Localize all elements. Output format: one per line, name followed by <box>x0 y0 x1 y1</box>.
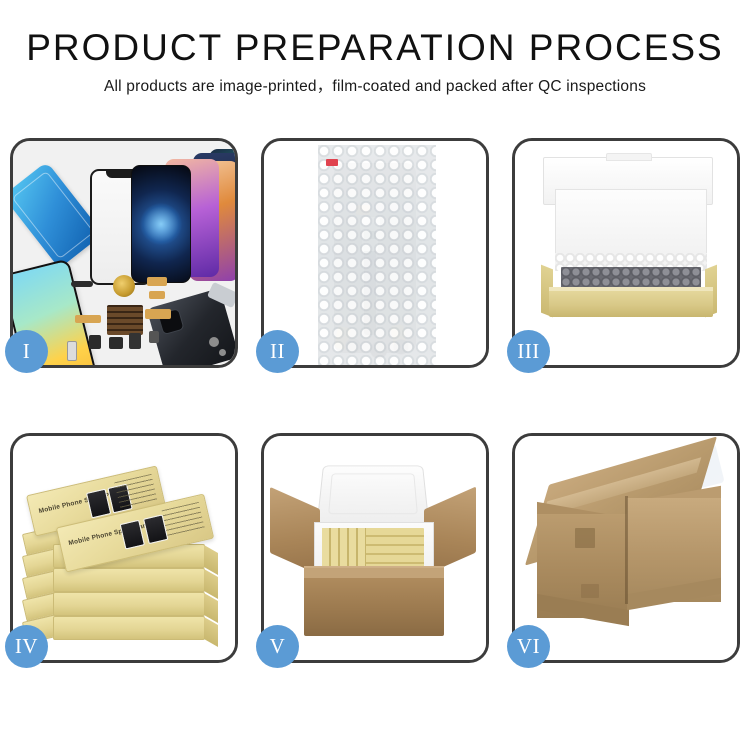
step-badge-4: IV <box>5 625 48 668</box>
step-panel-4[interactable]: Mobile Phone Spare Parts Mobile Phone Sp… <box>10 433 238 663</box>
step-panel-1[interactable]: I <box>10 138 238 368</box>
part-flex-strip-a <box>71 281 93 287</box>
part-coil <box>113 275 135 297</box>
part-small-1 <box>89 335 101 349</box>
step-image-bubble-wrapped-screen <box>264 141 486 365</box>
page-title: PRODUCT PREPARATION PROCESS <box>0 26 750 70</box>
step-panel-2[interactable]: II <box>261 138 489 368</box>
carton-front-wall <box>304 576 444 636</box>
step-badge-5: V <box>256 625 299 668</box>
red-qc-label <box>326 159 338 166</box>
step-panel-3[interactable]: III <box>512 138 740 368</box>
step-badge-2: II <box>256 330 299 373</box>
gold-box-front-2 <box>53 616 205 640</box>
carton-label-lower <box>581 584 599 598</box>
box-front-wall <box>549 291 713 317</box>
carton-flap-left <box>270 487 320 575</box>
box-spec-lines-lower <box>162 502 205 538</box>
part-small-4 <box>149 331 159 343</box>
step-image-parts-collage <box>13 141 235 365</box>
step-image-stacked-gold-boxes: Mobile Phone Spare Parts Mobile Phone Sp… <box>13 436 235 660</box>
header: PRODUCT PREPARATION PROCESS All products… <box>0 0 750 98</box>
part-small-5 <box>67 341 77 361</box>
part-flex-strip-c <box>149 291 165 299</box>
part-chip-grid <box>107 305 143 335</box>
gold-box-front-3 <box>53 592 205 616</box>
step-badge-6: VI <box>507 625 550 668</box>
step-badge-3: III <box>507 330 550 373</box>
part-screw-1 <box>209 337 219 347</box>
step-image-sealed-shipping-carton <box>515 436 737 660</box>
carton-corner-seam <box>625 496 628 604</box>
foam-box-lid <box>317 466 430 524</box>
gold-box-stack: Mobile Phone Spare Parts Mobile Phone Sp… <box>19 452 235 648</box>
part-flex-strip-d <box>75 315 101 323</box>
bubble-wrap-overlay <box>318 145 436 365</box>
part-screw-2 <box>219 349 226 356</box>
step-badge-1: I <box>5 330 48 373</box>
product-preparation-infographic: PRODUCT PREPARATION PROCESS All products… <box>0 0 750 750</box>
step-image-foam-lined-gold-box <box>515 141 737 365</box>
step-image-carton-with-foam-insert <box>264 436 486 660</box>
part-small-2 <box>109 337 123 349</box>
phone-lcd-display <box>131 165 191 283</box>
part-flex-strip-e <box>145 309 171 319</box>
step-panel-6[interactable]: VI <box>512 433 740 663</box>
part-small-3 <box>129 333 141 349</box>
step-panel-5[interactable]: V <box>261 433 489 663</box>
steps-grid: I II <box>10 138 740 663</box>
page-subtitle: All products are image-printed，film-coat… <box>0 76 750 98</box>
gold-box-front-4 <box>53 568 205 592</box>
part-flex-strip-b <box>147 277 167 286</box>
box-spec-lines-upper <box>114 474 157 510</box>
carton-label-upper <box>575 528 595 548</box>
